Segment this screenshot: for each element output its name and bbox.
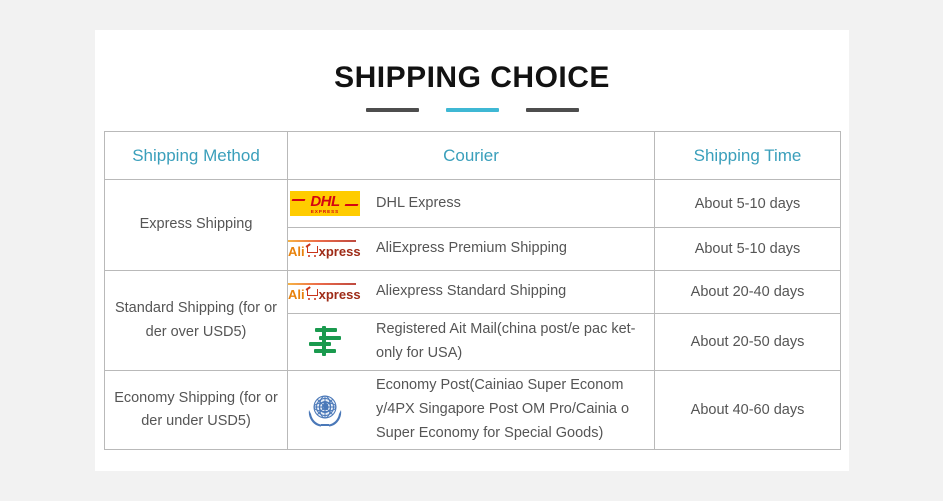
method-economy-shipping: Economy Shipping (for or der under USD5)	[105, 371, 288, 450]
shipping-table: Shipping Method Courier Shipping Time Ex…	[104, 131, 841, 450]
shipping-card: SHIPPING CHOICE Shipping Method Courier …	[95, 30, 849, 471]
method-express-shipping: Express Shipping	[105, 180, 288, 271]
courier-name: AliExpress Premium Shipping	[376, 237, 567, 261]
courier-name: DHL Express	[376, 192, 461, 216]
dhl-logo-subtitle: EXPRESS	[311, 210, 339, 215]
shopping-cart-icon	[306, 246, 319, 257]
courier-cell-aliexpress-standard: Ali xpress	[288, 271, 655, 314]
column-header-shipping-method: Shipping Method	[105, 132, 288, 180]
shopping-cart-icon	[306, 289, 319, 300]
shipping-time: About 20-40 days	[655, 271, 841, 314]
divider-dash-center	[446, 108, 499, 112]
shipping-table-wrapper: Shipping Method Courier Shipping Time Ex…	[104, 131, 840, 450]
title-divider	[95, 108, 849, 112]
courier-cell-aliexpress-premium: Ali xpress	[288, 228, 655, 271]
table-row: Standard Shipping (for or der over USD5)…	[105, 271, 841, 314]
table-header-row: Shipping Method Courier Shipping Time	[105, 132, 841, 180]
column-header-courier: Courier	[288, 132, 655, 180]
table-row: Express Shipping DHL EXPRESS DHL Express	[105, 180, 841, 228]
aliexpress-logo-bar	[288, 240, 356, 242]
divider-dash-left	[366, 108, 419, 112]
un-globe-icon	[303, 390, 347, 430]
aliexpress-logo-suffix: xpress	[319, 245, 361, 258]
aliexpress-logo-prefix: Ali	[288, 245, 305, 258]
shipping-time: About 5-10 days	[655, 228, 841, 271]
page-root: SHIPPING CHOICE Shipping Method Courier …	[0, 0, 943, 501]
aliexpress-logo-prefix: Ali	[288, 288, 305, 301]
courier-name: Registered Ait Mail(china post/e pac ket…	[376, 318, 654, 366]
aliexpress-logo: Ali xpress	[288, 228, 362, 270]
shipping-time: About 5-10 days	[655, 180, 841, 228]
un-emblem-logo	[288, 389, 362, 431]
dhl-logo: DHL EXPRESS	[288, 183, 362, 225]
divider-dash-right	[526, 108, 579, 112]
column-header-shipping-time: Shipping Time	[655, 132, 841, 180]
page-title: SHIPPING CHOICE	[95, 61, 849, 95]
courier-name: Aliexpress Standard Shipping	[376, 280, 566, 304]
courier-name: Economy Post(Cainiao Super Econom y/4PX …	[376, 374, 654, 446]
courier-cell-economy-post: Economy Post(Cainiao Super Econom y/4PX …	[288, 371, 655, 450]
aliexpress-logo: Ali xpress	[288, 271, 362, 313]
shipping-time: About 40-60 days	[655, 371, 841, 450]
dhl-logo-text: DHL	[310, 194, 339, 209]
aliexpress-logo-bar	[288, 283, 356, 285]
courier-cell-registered-air-mail: Registered Ait Mail(china post/e pac ket…	[288, 314, 655, 371]
courier-cell-dhl: DHL EXPRESS DHL Express	[288, 180, 655, 228]
method-standard-shipping: Standard Shipping (for or der over USD5)	[105, 271, 288, 371]
aliexpress-logo-suffix: xpress	[319, 288, 361, 301]
shipping-time: About 20-50 days	[655, 314, 841, 371]
table-row: Economy Shipping (for or der under USD5)	[105, 371, 841, 450]
china-post-logo	[288, 321, 362, 363]
